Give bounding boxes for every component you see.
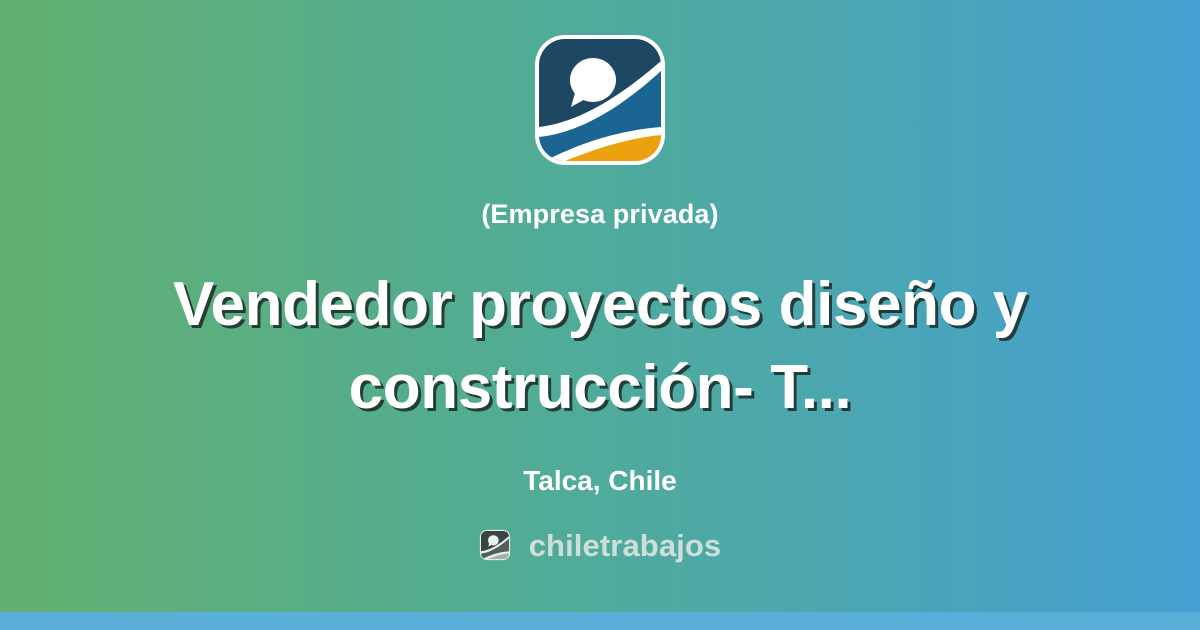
chiletrabajos-wordmark-icon: [479, 529, 511, 561]
job-share-card: (Empresa privada) Vendedor proyectos dis…: [0, 0, 1200, 630]
job-location: Talca, Chile: [523, 467, 677, 495]
chiletrabajos-logo-icon: [531, 31, 669, 169]
brand-footer: chiletrabajos: [479, 529, 722, 561]
brand-name-label: chiletrabajos: [529, 530, 722, 561]
company-label: (Empresa privada): [481, 201, 718, 228]
page-title: Vendedor proyectos diseño y construcción…: [70, 263, 1130, 429]
bottom-accent-bar: [0, 612, 1200, 630]
